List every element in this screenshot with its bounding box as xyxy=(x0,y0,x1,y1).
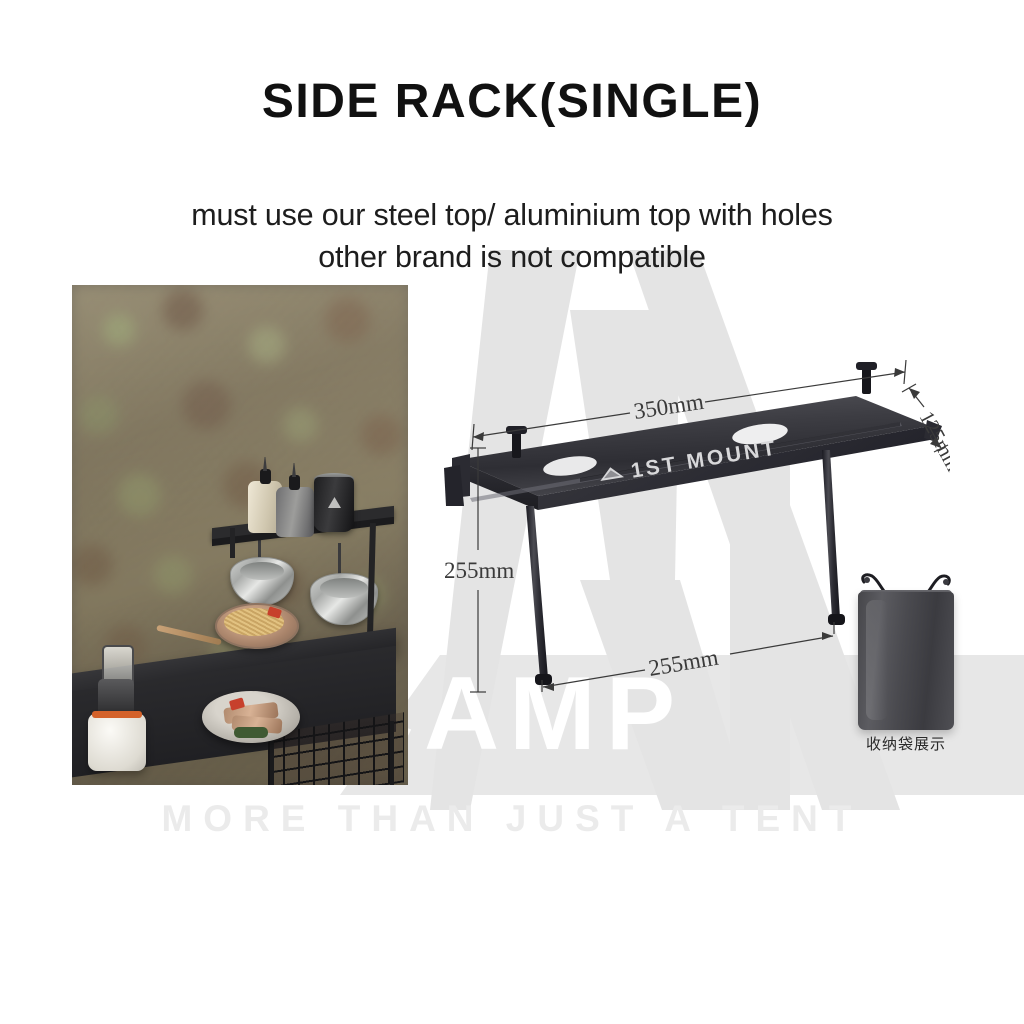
cup-hook-icon xyxy=(338,543,341,577)
greens-garnish xyxy=(234,727,268,738)
watermark-tagline: MORE THAN JUST A TENT xyxy=(0,798,1024,840)
rack-leg xyxy=(822,450,845,625)
bottle-cap xyxy=(289,475,300,490)
dimension-label-width: 350mm xyxy=(632,389,705,424)
product-info-graphic: CAMP MORE THAN JUST A TENT SIDE RACK(SIN… xyxy=(0,0,1024,1024)
rack-table-top: 1ST MOUNT xyxy=(444,362,942,510)
dimension-label-leg-spacing: 255mm xyxy=(647,645,721,681)
lantern-body xyxy=(88,713,146,771)
camp-table-leg xyxy=(390,721,394,785)
storage-bag-sheen xyxy=(866,600,888,720)
page-title: SIDE RACK(SINGLE) xyxy=(0,74,1024,129)
storage-bag xyxy=(858,570,954,730)
lifestyle-photo xyxy=(72,285,408,785)
side-rack-leg xyxy=(230,528,235,558)
squeeze-bottle xyxy=(276,487,314,537)
cup-interior xyxy=(320,578,368,598)
lantern-accent xyxy=(92,711,142,718)
subtitle-line-2: other brand is not compatible xyxy=(0,240,1024,275)
subtitle-line-1: must use our steel top/ aluminium top wi… xyxy=(0,198,1024,233)
rack-leg xyxy=(526,506,552,685)
camp-table-leg xyxy=(270,737,274,785)
cup-interior xyxy=(240,562,285,580)
dimension-label-height: 255mm xyxy=(444,558,514,583)
bottle-cap xyxy=(260,469,271,484)
storage-bag-caption: 收纳袋展示 xyxy=(818,733,994,754)
